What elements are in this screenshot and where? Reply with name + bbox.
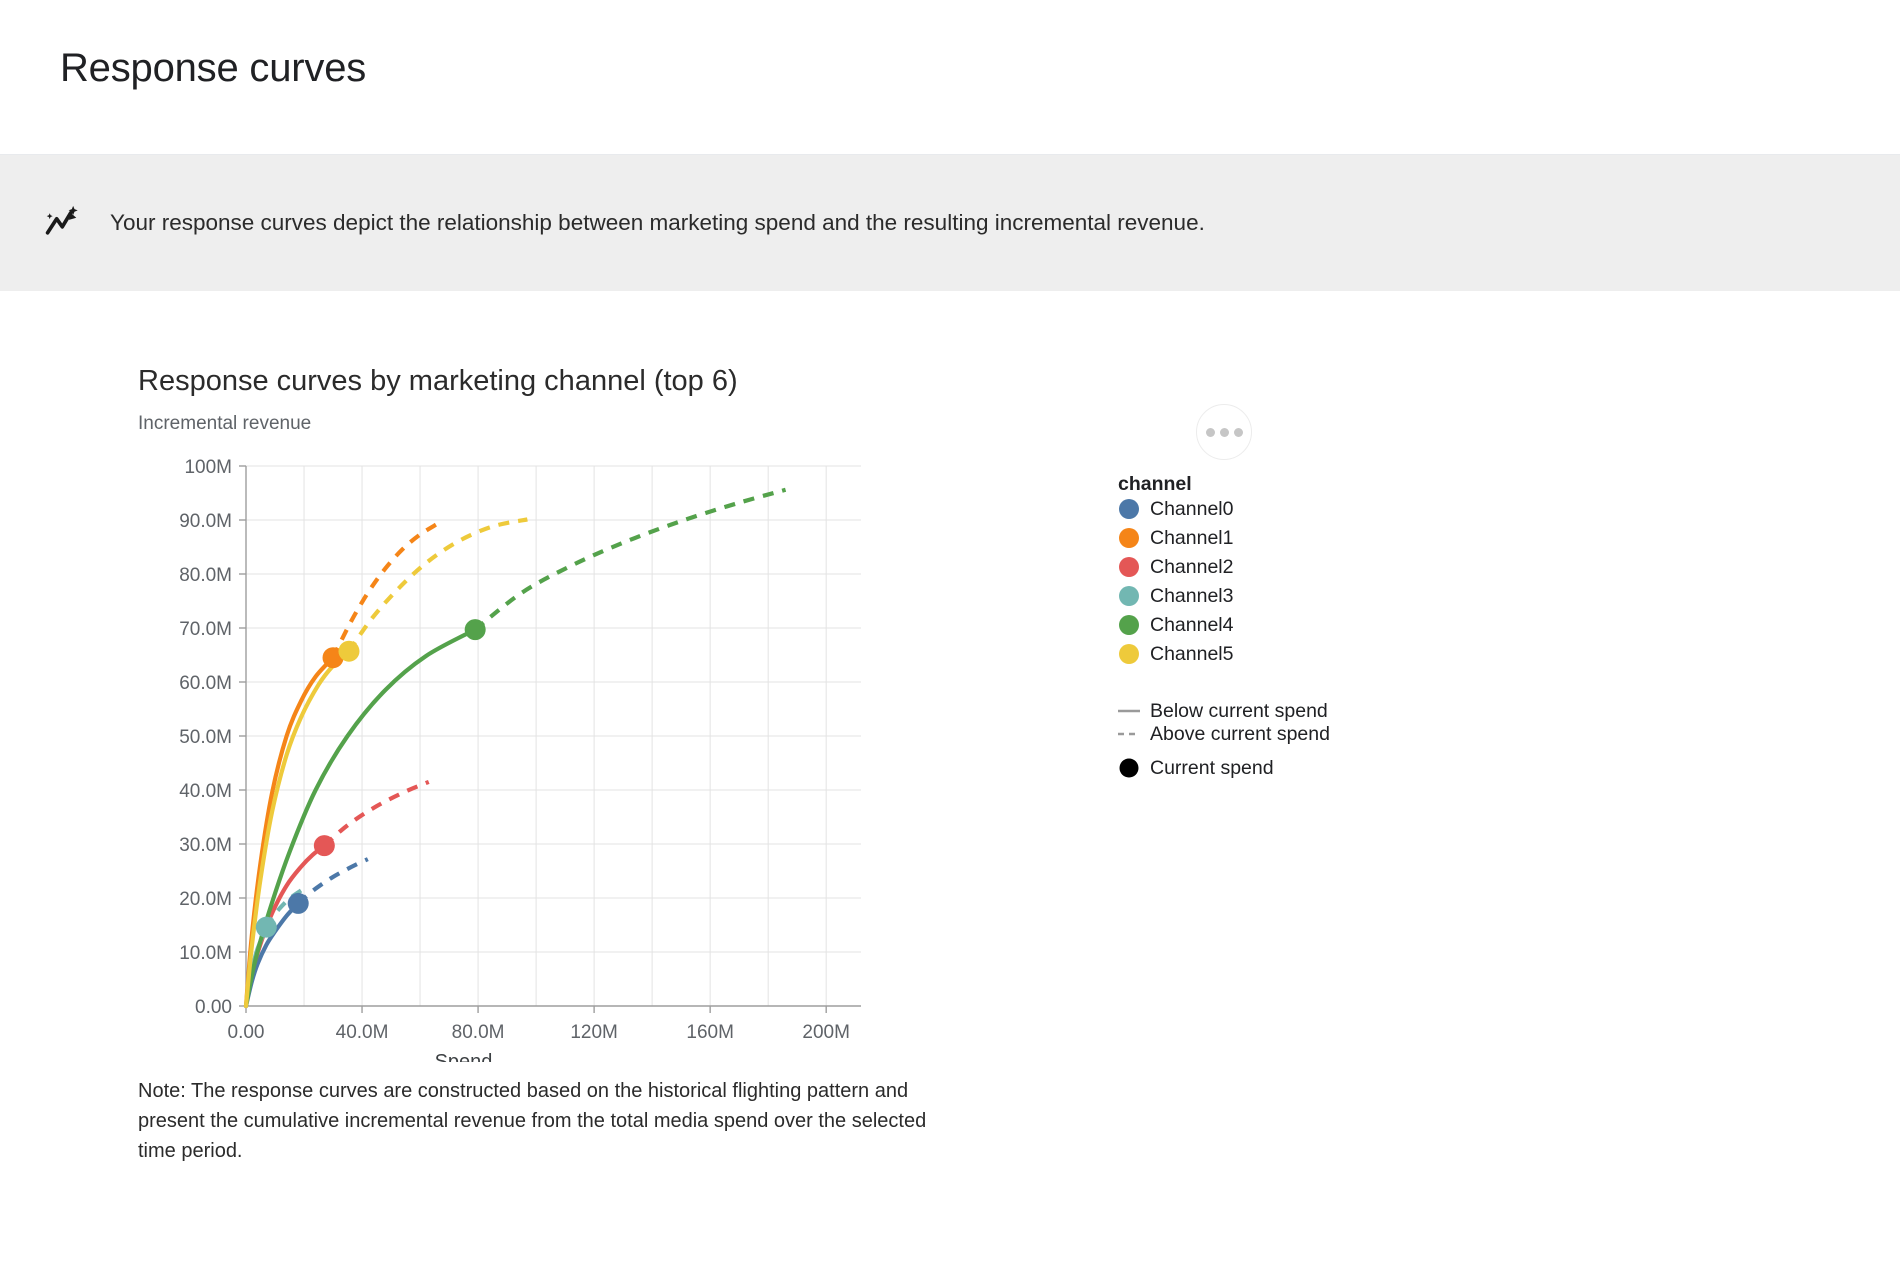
page-title: Response curves [60,44,1900,92]
dot-1 [1206,428,1215,437]
more-options-icon[interactable] [1196,404,1252,460]
legend-swatch-channel2[interactable] [1119,557,1139,577]
y-axis-tick-label: 0.00 [195,997,232,1018]
current-spend-marker-channel5[interactable] [338,641,359,662]
y-axis-tick-label: 90.0M [179,511,232,532]
y-axis-tick-label: 50.0M [179,727,232,748]
legend-label-channel3: Channel3 [1150,585,1233,607]
y-axis-tick-label: 30.0M [179,835,232,856]
response-curves-card: Response curves by marketing channel (to… [0,291,1900,1166]
legend-label-channel4: Channel4 [1150,614,1234,636]
page-header: Response curves [0,0,1900,155]
x-axis-tick-label: 200M [802,1022,850,1043]
y-axis-tick-label: 10.0M [179,943,232,964]
chart-note: Note: The response curves are constructe… [138,1076,948,1166]
dot-3 [1234,428,1243,437]
legend-swatch-channel3[interactable] [1119,586,1139,606]
x-axis-tick-label: 120M [570,1022,618,1043]
current-spend-marker-channel2[interactable] [314,835,335,856]
curve-above-channel0 [298,859,368,903]
y-axis-tick-label: 60.0M [179,673,232,694]
curve-above-channel5 [349,519,527,651]
legend-swatch-channel4[interactable] [1119,615,1139,635]
legend-label-channel2: Channel2 [1150,556,1233,578]
x-axis-tick-label: 0.00 [228,1022,265,1043]
current-spend-marker-channel0[interactable] [288,893,309,914]
curve-above-channel4 [475,490,785,630]
legend-marker-label-current-spend: Current spend [1150,757,1274,779]
y-axis-tick-label: 40.0M [179,781,232,802]
y-axis-tick-label: 100M [184,457,232,478]
legend-label-channel0: Channel0 [1150,498,1234,520]
legend-swatch-channel1[interactable] [1119,528,1139,548]
y-axis-tick-label: 20.0M [179,889,232,910]
curve-above-channel1 [333,524,437,658]
legend-style-label-dashed: Above current spend [1150,723,1330,745]
x-axis-tick-label: 160M [686,1022,734,1043]
info-banner-text: Your response curves depict the relation… [110,208,1205,238]
chart-title: Response curves by marketing channel (to… [138,363,1900,399]
legend-marker-current-spend[interactable] [1120,759,1139,778]
legend-label-channel5: Channel5 [1150,643,1234,665]
chart-subtitle: Incremental revenue [138,412,1900,436]
current-spend-marker-channel4[interactable] [465,619,486,640]
chart-canvas: 0.0010.0M20.0M30.0M40.0M50.0M60.0M70.0M8… [138,452,1338,1062]
legend-style-label-solid: Below current spend [1150,700,1328,722]
x-axis-tick-label: 80.0M [452,1022,505,1043]
y-axis-tick-label: 70.0M [179,619,232,640]
legend-label-channel1: Channel1 [1150,527,1233,549]
legend-swatch-channel5[interactable] [1119,644,1139,664]
response-curves-page: Response curves Your response curves dep… [0,0,1900,1282]
info-banner: Your response curves depict the relation… [0,155,1900,291]
insights-sparkle-icon [40,200,86,246]
y-axis-tick-label: 80.0M [179,565,232,586]
response-curves-chart: 0.0010.0M20.0M30.0M40.0M50.0M60.0M70.0M8… [138,452,1338,1062]
curve-above-channel2 [324,782,428,846]
dot-2 [1220,428,1229,437]
legend-title: channel [1118,473,1192,495]
current-spend-marker-channel3[interactable] [256,917,277,938]
x-axis-title: Spend [435,1051,493,1062]
legend-swatch-channel0[interactable] [1119,499,1139,519]
x-axis-tick-label: 40.0M [336,1022,389,1043]
